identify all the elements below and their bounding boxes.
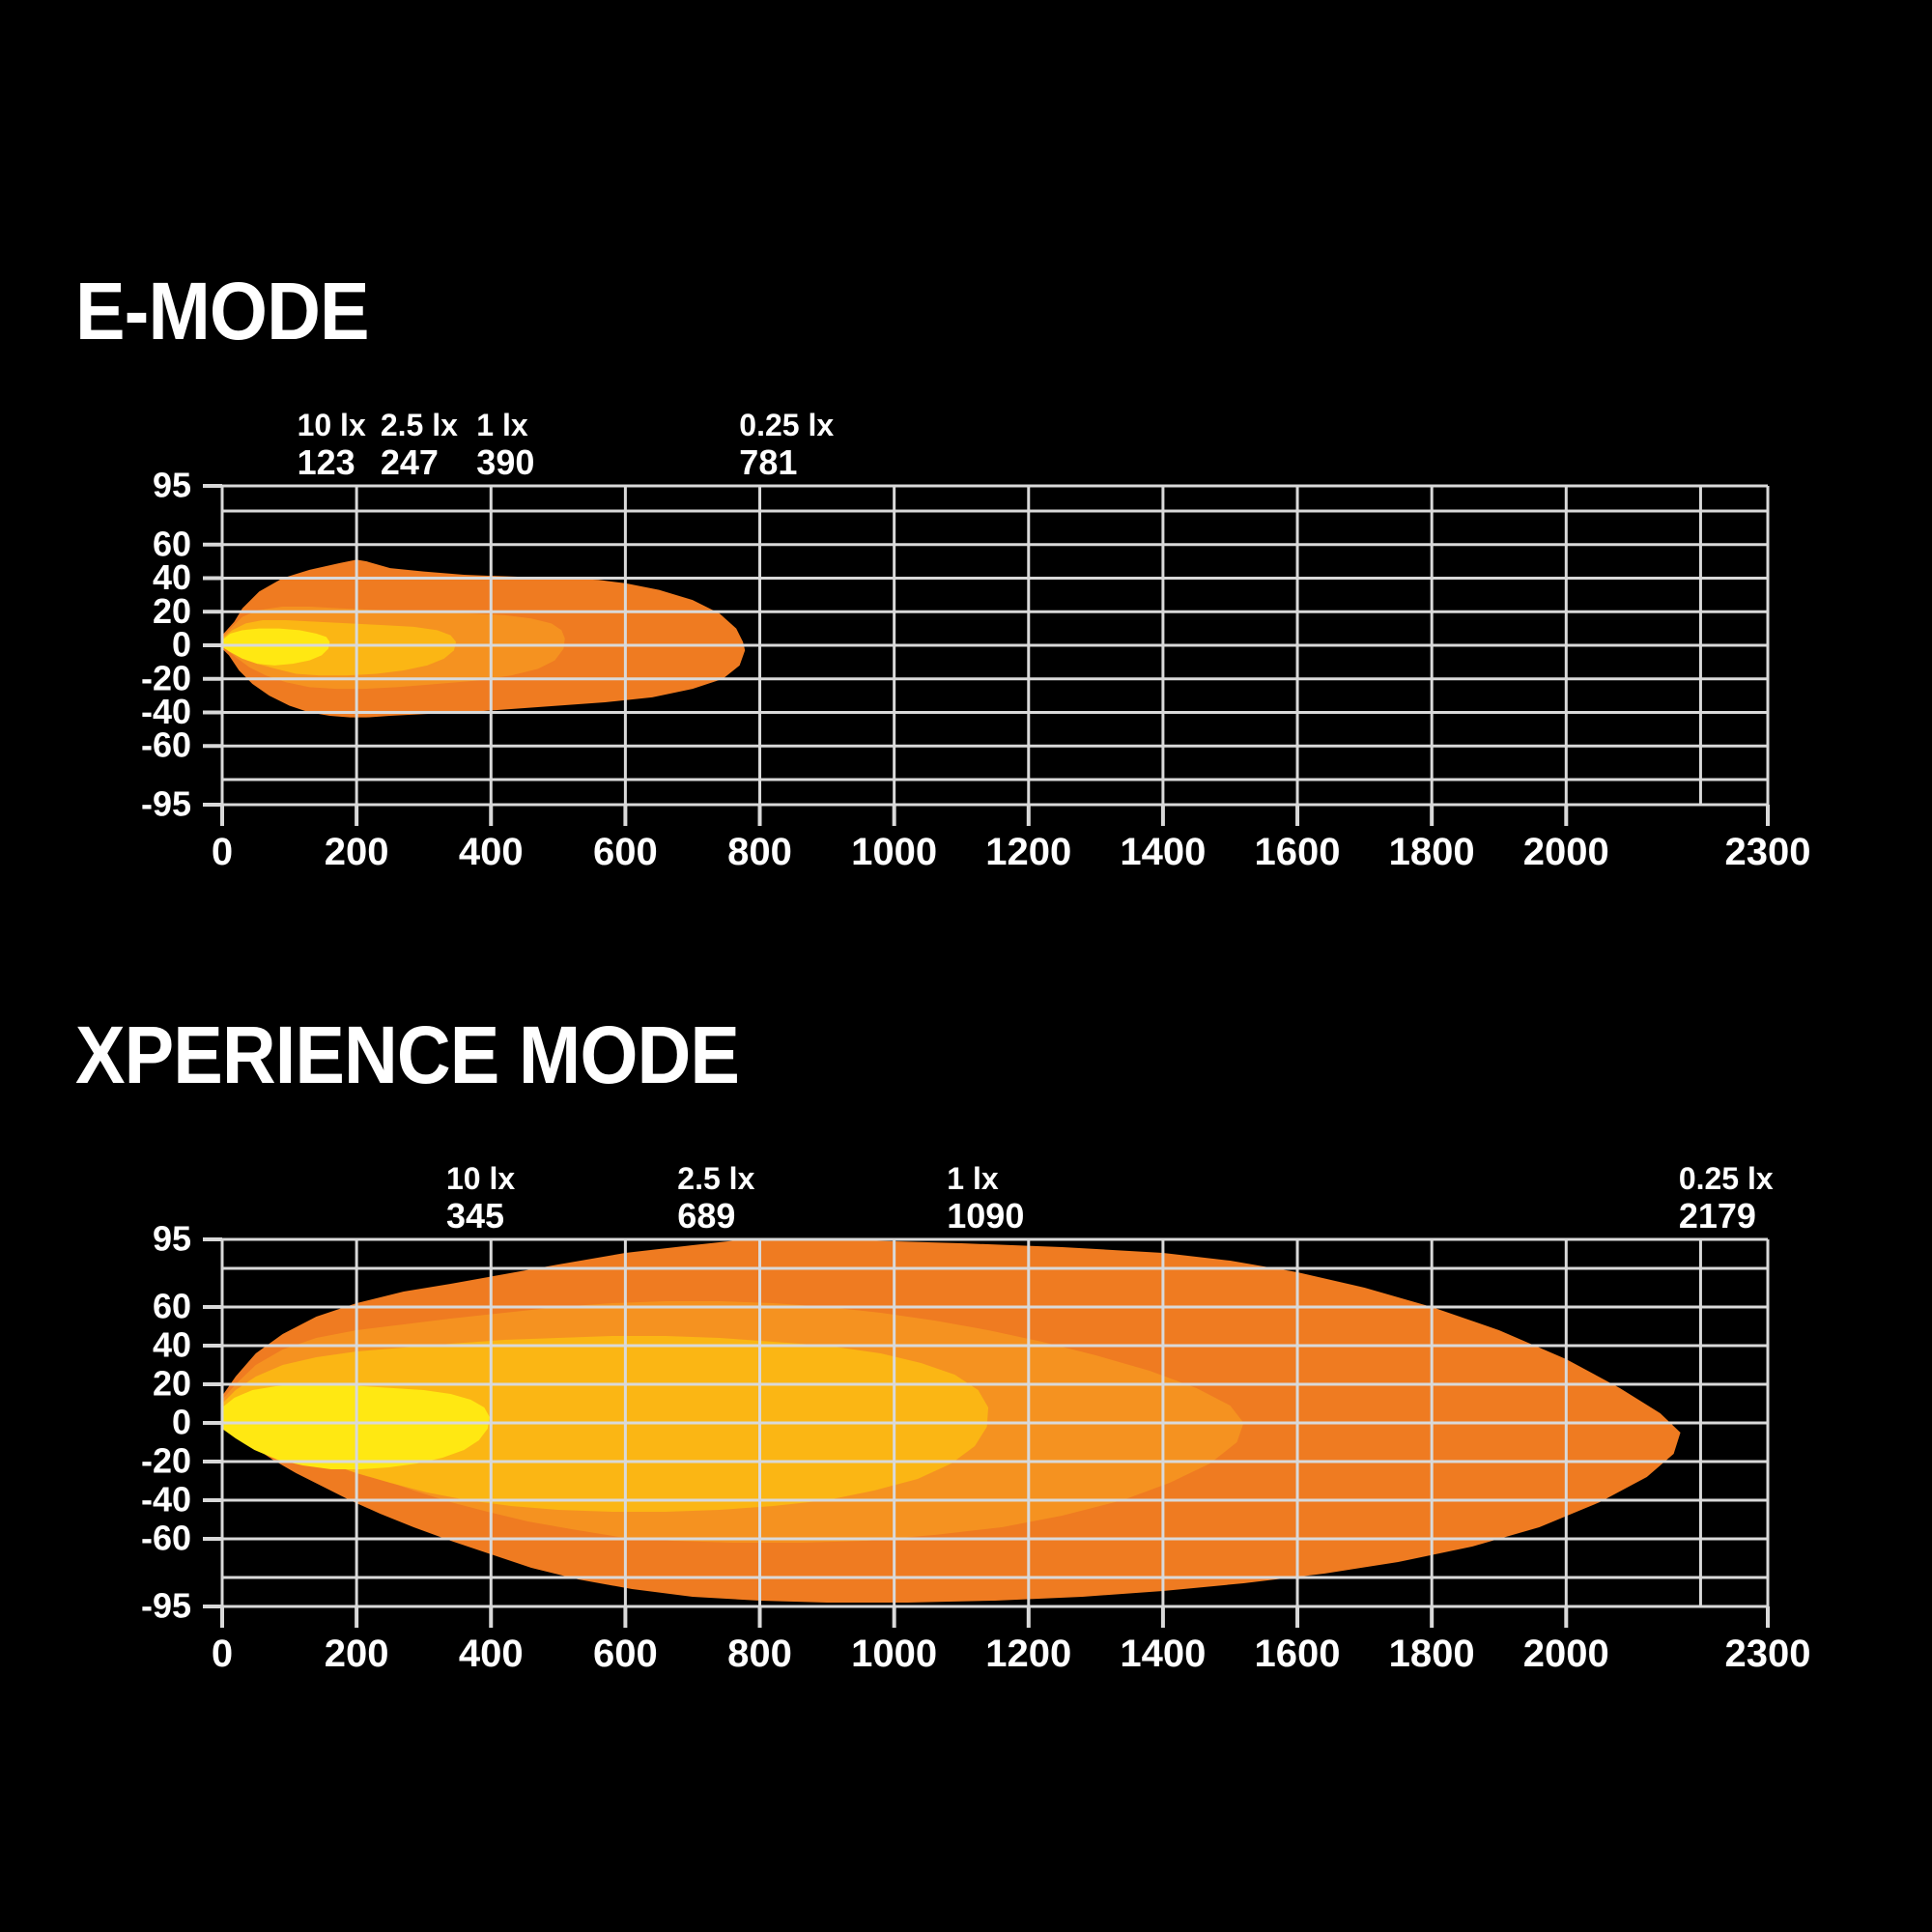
lux-threshold-label: 10 lx: [298, 408, 366, 442]
lux-threshold-label: 2.5 lx: [677, 1161, 754, 1196]
chart-area-xperience-mode: 10 lx3452.5 lx6891 lx10900.25 lx21799560…: [0, 1109, 1932, 1689]
x-axis-tick-label: 1800: [1389, 1633, 1475, 1675]
x-axis-tick-label: 1400: [1120, 1633, 1206, 1675]
lux-distance-value: 247: [381, 442, 439, 482]
x-axis-tick-label: 200: [325, 831, 389, 873]
lux-distance-value: 390: [476, 442, 534, 482]
lux-threshold-label: 0.25 lx: [1679, 1161, 1774, 1196]
lux-distance-value: 1090: [947, 1196, 1024, 1236]
x-axis-tick-label: 2300: [1725, 831, 1811, 873]
y-axis-tick-label: 95: [153, 466, 191, 505]
y-axis-tick-label: 0: [172, 1403, 191, 1442]
chart-area-e-mode: 10 lx1232.5 lx2471 lx3900.25 lx781956040…: [0, 365, 1932, 906]
lux-threshold-label: 1 lx: [947, 1161, 999, 1196]
x-axis-tick-label: 600: [593, 831, 658, 873]
x-axis-tick-label: 2000: [1523, 831, 1609, 873]
lux-threshold-label: 2.5 lx: [381, 408, 458, 442]
x-axis-tick-label: 0: [212, 831, 233, 873]
lux-distance-value: 345: [446, 1196, 504, 1236]
y-axis-tick-label: -20: [141, 1441, 191, 1481]
y-axis-tick-label: -60: [141, 1519, 191, 1558]
x-axis-tick-label: 1200: [985, 831, 1071, 873]
y-axis-tick-label: -60: [141, 725, 191, 765]
chart-title-xperience-mode: XPERIENCE MODE: [75, 1014, 1783, 1095]
x-axis-tick-label: 800: [727, 1633, 792, 1675]
x-axis-tick-label: 1400: [1120, 831, 1206, 873]
beam-pattern-page: E-MODE 10 lx1232.5 lx2471 lx3900.25 lx78…: [0, 0, 1932, 1932]
x-axis-tick-label: 2000: [1523, 1633, 1609, 1675]
chart-block-e-mode: E-MODE 10 lx1232.5 lx2471 lx3900.25 lx78…: [0, 270, 1932, 906]
x-axis-tick-label: 600: [593, 1633, 658, 1675]
lux-distance-value: 2179: [1679, 1196, 1756, 1236]
y-axis-tick-label: 40: [153, 1325, 191, 1365]
x-axis-tick-label: 1800: [1389, 831, 1475, 873]
lux-distance-value: 689: [677, 1196, 735, 1236]
y-axis-tick-label: -95: [141, 1586, 191, 1626]
lux-threshold-label: 1 lx: [476, 408, 528, 442]
beam-diagram-xperience-mode: 10 lx3452.5 lx6891 lx10900.25 lx21799560…: [0, 1109, 1835, 1689]
x-axis-tick-label: 2300: [1725, 1633, 1811, 1675]
y-axis-tick-label: 20: [153, 1364, 191, 1404]
lux-threshold-label: 10 lx: [446, 1161, 515, 1196]
x-axis-tick-label: 1000: [851, 1633, 937, 1675]
beam-diagram-e-mode: 10 lx1232.5 lx2471 lx3900.25 lx781956040…: [0, 365, 1835, 906]
chart-title-e-mode: E-MODE: [75, 270, 1783, 352]
chart-block-xperience-mode: XPERIENCE MODE 10 lx3452.5 lx6891 lx1090…: [0, 1014, 1932, 1689]
y-axis-tick-label: -40: [141, 1480, 191, 1520]
y-axis-tick-label: 95: [153, 1219, 191, 1259]
x-axis-tick-label: 400: [459, 1633, 524, 1675]
x-axis-tick-label: 400: [459, 831, 524, 873]
lux-distance-value: 781: [739, 442, 797, 482]
x-axis-tick-label: 1000: [851, 831, 937, 873]
y-axis-tick-label: -95: [141, 784, 191, 824]
x-axis-tick-label: 800: [727, 831, 792, 873]
x-axis-tick-label: 0: [212, 1633, 233, 1675]
x-axis-tick-label: 1600: [1255, 831, 1341, 873]
y-axis-tick-label: 60: [153, 1287, 191, 1326]
x-axis-tick-label: 1600: [1255, 1633, 1341, 1675]
x-axis-tick-label: 1200: [985, 1633, 1071, 1675]
lux-distance-value: 123: [298, 442, 355, 482]
x-axis-tick-label: 200: [325, 1633, 389, 1675]
lux-threshold-label: 0.25 lx: [739, 408, 834, 442]
